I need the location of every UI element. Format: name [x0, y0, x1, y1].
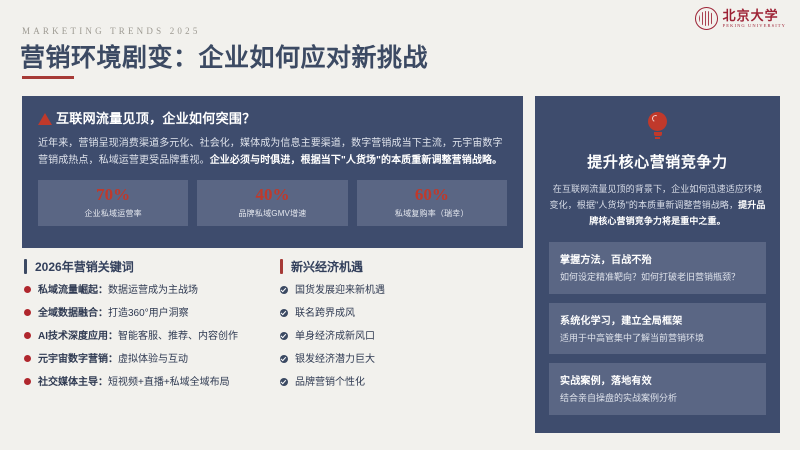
main-panel-body: 近年来，营销呈现消费渠道多元化、社会化，媒体成为信息主要渠道，数字营销成当下主流… — [38, 136, 507, 169]
stat-value: 70% — [42, 186, 184, 205]
logo-name-en: PEKING UNIVERSITY — [723, 24, 786, 29]
list-item-text: AI技术深度应用：智能客服、推荐、内容创作 — [38, 330, 238, 343]
check-circle-icon — [280, 286, 288, 294]
list-item-rest: 数据运营成为主战场 — [108, 285, 198, 296]
lightbulb-base — [654, 132, 662, 136]
benefit-card-subtitle: 结合亲自操盘的实战案例分析 — [560, 392, 755, 405]
benefit-card: 实战案例，落地有效 结合亲自操盘的实战案例分析 — [549, 363, 766, 415]
list-item: 全域数据融合：打造360°用户洞察 — [24, 307, 274, 320]
main-highlight-panel: 互联网流量见顶，企业如何突围？ 近年来，营销呈现消费渠道多元化、社会化，媒体成为… — [22, 96, 523, 248]
list-item-text: 国货发展迎来新机遇 — [295, 284, 385, 297]
logo-text-group: 北京大学 PEKING UNIVERSITY — [723, 9, 786, 29]
accent-bar — [280, 259, 283, 274]
benefit-card: 掌握方法，百战不殆 如何设定精准靶向？如何打破老旧营销瓶颈？ — [549, 242, 766, 294]
list-item-rest: 智能客服、推荐、内容创作 — [118, 331, 238, 342]
check-circle-icon — [280, 355, 288, 363]
column-opportunities-header: 新兴经济机遇 — [280, 258, 525, 275]
stat-card: 60% 私域复购率（瑞幸） — [357, 180, 507, 226]
main-panel-heading-text: 互联网流量见顶，企业如何突围？ — [56, 108, 256, 127]
red-dot-bullet-icon — [24, 355, 31, 362]
list-item-text: 私域流量崛起：数据运营成为主战场 — [38, 284, 198, 297]
warning-triangle-icon — [38, 113, 52, 125]
opportunities-list: 国货发展迎来新机遇 联名跨界成风 单身经济成新风口 银发经济潜力巨大 品牌营销个… — [280, 284, 525, 389]
stat-label: 企业私域运营率 — [42, 208, 184, 219]
list-item-strong: AI技术深度应用： — [38, 331, 118, 342]
accent-bar — [24, 259, 27, 274]
red-dot-bullet-icon — [24, 332, 31, 339]
main-panel-heading: 互联网流量见顶，企业如何突围？ — [38, 108, 507, 127]
red-dot-bullet-icon — [24, 309, 31, 316]
peking-university-seal-icon — [695, 7, 718, 30]
slide-root: MARKETING TRENDS 2025 营销环境剧变：企业如何应对新挑战 北… — [0, 0, 800, 450]
list-item: 私域流量崛起：数据运营成为主战场 — [24, 284, 274, 297]
list-item-text: 联名跨界成风 — [295, 307, 355, 320]
list-item-rest: 短视频+直播+私域全域布局 — [108, 377, 230, 388]
list-item: 社交媒体主导：短视频+直播+私域全域布局 — [24, 376, 274, 389]
list-item-text: 银发经济潜力巨大 — [295, 353, 375, 366]
list-item: AI技术深度应用：智能客服、推荐、内容创作 — [24, 330, 274, 343]
side-desc-normal: 在互联网流量见顶的背景下，企业如何迅速适应环境变化，根据"人货场"的本质重新调整… — [550, 184, 763, 210]
list-item-text: 元宇宙数字营销：虚拟体验与互动 — [38, 353, 188, 366]
column-keywords-title: 2026年营销关键词 — [35, 258, 134, 275]
lightbulb-glass — [648, 112, 667, 131]
check-circle-icon — [280, 309, 288, 317]
side-panel-title: 提升核心营销竞争力 — [549, 151, 766, 172]
side-panel: 提升核心营销竞争力 在互联网流量见顶的背景下，企业如何迅速适应环境变化，根据"人… — [535, 96, 780, 433]
page-title: 营销环境剧变：企业如何应对新挑战 — [20, 38, 428, 74]
list-item-strong: 全域数据融合： — [38, 308, 108, 319]
list-item-text: 单身经济成新风口 — [295, 330, 375, 343]
benefit-card-title: 实战案例，落地有效 — [560, 372, 755, 387]
side-panel-cards: 掌握方法，百战不殆 如何设定精准靶向？如何打破老旧营销瓶颈？ 系统化学习，建立全… — [549, 242, 766, 415]
benefit-card: 系统化学习，建立全局框架 适用于中高管集中了解当前营销环境 — [549, 303, 766, 355]
lightbulb-tip — [655, 137, 660, 139]
list-item: 国货发展迎来新机遇 — [280, 284, 525, 297]
stat-value: 60% — [361, 186, 503, 205]
stats-row: 70% 企业私域运营率 40% 品牌私域GMV增速 60% 私域复购率（瑞幸） — [38, 180, 507, 226]
logo-name-cn: 北京大学 — [723, 9, 786, 22]
red-dot-bullet-icon — [24, 286, 31, 293]
stat-card: 40% 品牌私域GMV增速 — [197, 180, 347, 226]
benefit-card-subtitle: 适用于中高管集中了解当前营销环境 — [560, 332, 755, 345]
benefit-card-title: 掌握方法，百战不殆 — [560, 251, 755, 266]
column-keywords: 2026年营销关键词 私域流量崛起：数据运营成为主战场 全域数据融合：打造360… — [24, 258, 274, 399]
main-panel-body-strong: 企业必须与时俱进，根据当下"人货场"的本质重新调整营销战略。 — [210, 155, 502, 166]
list-item-strong: 元宇宙数字营销： — [38, 354, 118, 365]
red-dot-bullet-icon — [24, 378, 31, 385]
column-opportunities: 新兴经济机遇 国货发展迎来新机遇 联名跨界成风 单身经济成新风口 银发经济潜力巨… — [280, 258, 525, 399]
stat-card: 70% 企业私域运营率 — [38, 180, 188, 226]
list-item-rest: 打造360°用户洞察 — [108, 308, 189, 319]
side-panel-description: 在互联网流量见顶的背景下，企业如何迅速适应环境变化，根据"人货场"的本质重新调整… — [549, 182, 766, 229]
list-item-strong: 社交媒体主导： — [38, 377, 108, 388]
list-item-strong: 私域流量崛起： — [38, 285, 108, 296]
title-underline-rule — [22, 76, 74, 79]
list-item: 品牌营销个性化 — [280, 376, 525, 389]
lightbulb-icon — [648, 112, 667, 142]
list-item-text: 品牌营销个性化 — [295, 376, 365, 389]
column-opportunities-title: 新兴经济机遇 — [291, 258, 363, 275]
stat-value: 40% — [201, 186, 343, 205]
benefit-card-subtitle: 如何设定精准靶向？如何打破老旧营销瓶颈？ — [560, 271, 755, 284]
stat-label: 品牌私域GMV增速 — [201, 208, 343, 219]
list-item-text: 全域数据融合：打造360°用户洞察 — [38, 307, 189, 320]
list-item: 联名跨界成风 — [280, 307, 525, 320]
list-item: 银发经济潜力巨大 — [280, 353, 525, 366]
list-item-rest: 虚拟体验与互动 — [118, 354, 188, 365]
column-keywords-header: 2026年营销关键词 — [24, 258, 274, 275]
benefit-card-title: 系统化学习，建立全局框架 — [560, 312, 755, 327]
keywords-list: 私域流量崛起：数据运营成为主战场 全域数据融合：打造360°用户洞察 AI技术深… — [24, 284, 274, 389]
list-item: 元宇宙数字营销：虚拟体验与互动 — [24, 353, 274, 366]
eyebrow-label: MARKETING TRENDS 2025 — [22, 26, 201, 36]
check-circle-icon — [280, 332, 288, 340]
stat-label: 私域复购率（瑞幸） — [361, 208, 503, 219]
list-item-text: 社交媒体主导：短视频+直播+私域全域布局 — [38, 376, 230, 389]
list-item: 单身经济成新风口 — [280, 330, 525, 343]
university-logo: 北京大学 PEKING UNIVERSITY — [695, 7, 786, 30]
check-circle-icon — [280, 378, 288, 386]
